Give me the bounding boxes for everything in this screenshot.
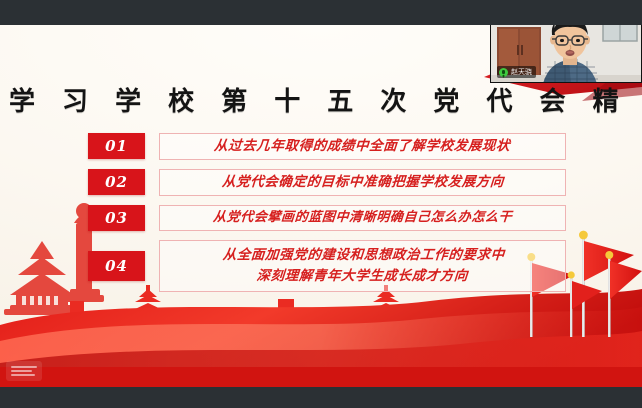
window-top-bar — [0, 0, 642, 25]
item-text-box: 从党代会擘画的蓝图中清晰明确自己怎么办怎么干 — [159, 205, 566, 231]
list-item[interactable]: 04 从全面加强党的建设和思想政治工作的要求中 深刻理解青年大学生成长成才方向 — [88, 240, 566, 292]
menu-lines-icon — [11, 370, 32, 372]
participant-name-tag: 赵天骁 — [497, 66, 536, 78]
item-text: 从全面加强党的建设和思想政治工作的要求中 深刻理解青年大学生成长成才方向 — [220, 245, 505, 287]
item-text: 从党代会擘画的蓝图中清晰明确自己怎么办怎么干 — [212, 208, 513, 228]
list-item[interactable]: 02 从党代会确定的目标中准确把握学校发展方向 — [88, 169, 566, 196]
item-text: 从党代会确定的目标中准确把握学校发展方向 — [221, 172, 504, 193]
participant-name: 赵天骁 — [511, 66, 532, 78]
item-number-badge: 03 — [88, 205, 145, 231]
item-number-badge: 01 — [88, 133, 145, 159]
point-list: 01 从过去几年取得的成绩中全面了解学校发展现状 02 从党代会确定的目标中准确… — [88, 133, 566, 292]
list-item[interactable]: 01 从过去几年取得的成绩中全面了解学校发展现状 — [88, 133, 566, 160]
item-text-box: 从党代会确定的目标中准确把握学校发展方向 — [159, 169, 566, 196]
floating-toolbar[interactable] — [6, 361, 42, 381]
microphone-icon — [499, 68, 508, 77]
item-text-box: 从过去几年取得的成绩中全面了解学校发展现状 — [159, 133, 566, 160]
item-text-box: 从全面加强党的建设和思想政治工作的要求中 深刻理解青年大学生成长成才方向 — [159, 240, 566, 292]
item-number-badge: 02 — [88, 169, 145, 195]
item-text: 从过去几年取得的成绩中全面了解学校发展现状 — [214, 136, 512, 157]
conference-screen: 学 习 学 校 第 十 五 次 党 代 会 精 神 01 从过去几年取得的成绩中… — [0, 0, 642, 408]
menu-lines-icon — [11, 366, 37, 368]
list-item[interactable]: 03 从党代会擘画的蓝图中清晰明确自己怎么办怎么干 — [88, 205, 566, 231]
window-bottom-bar — [0, 387, 642, 408]
page-title: 学 习 学 校 第 十 五 次 党 代 会 精 神 — [0, 81, 642, 118]
menu-lines-icon — [11, 374, 35, 376]
item-number-badge: 04 — [88, 251, 145, 281]
